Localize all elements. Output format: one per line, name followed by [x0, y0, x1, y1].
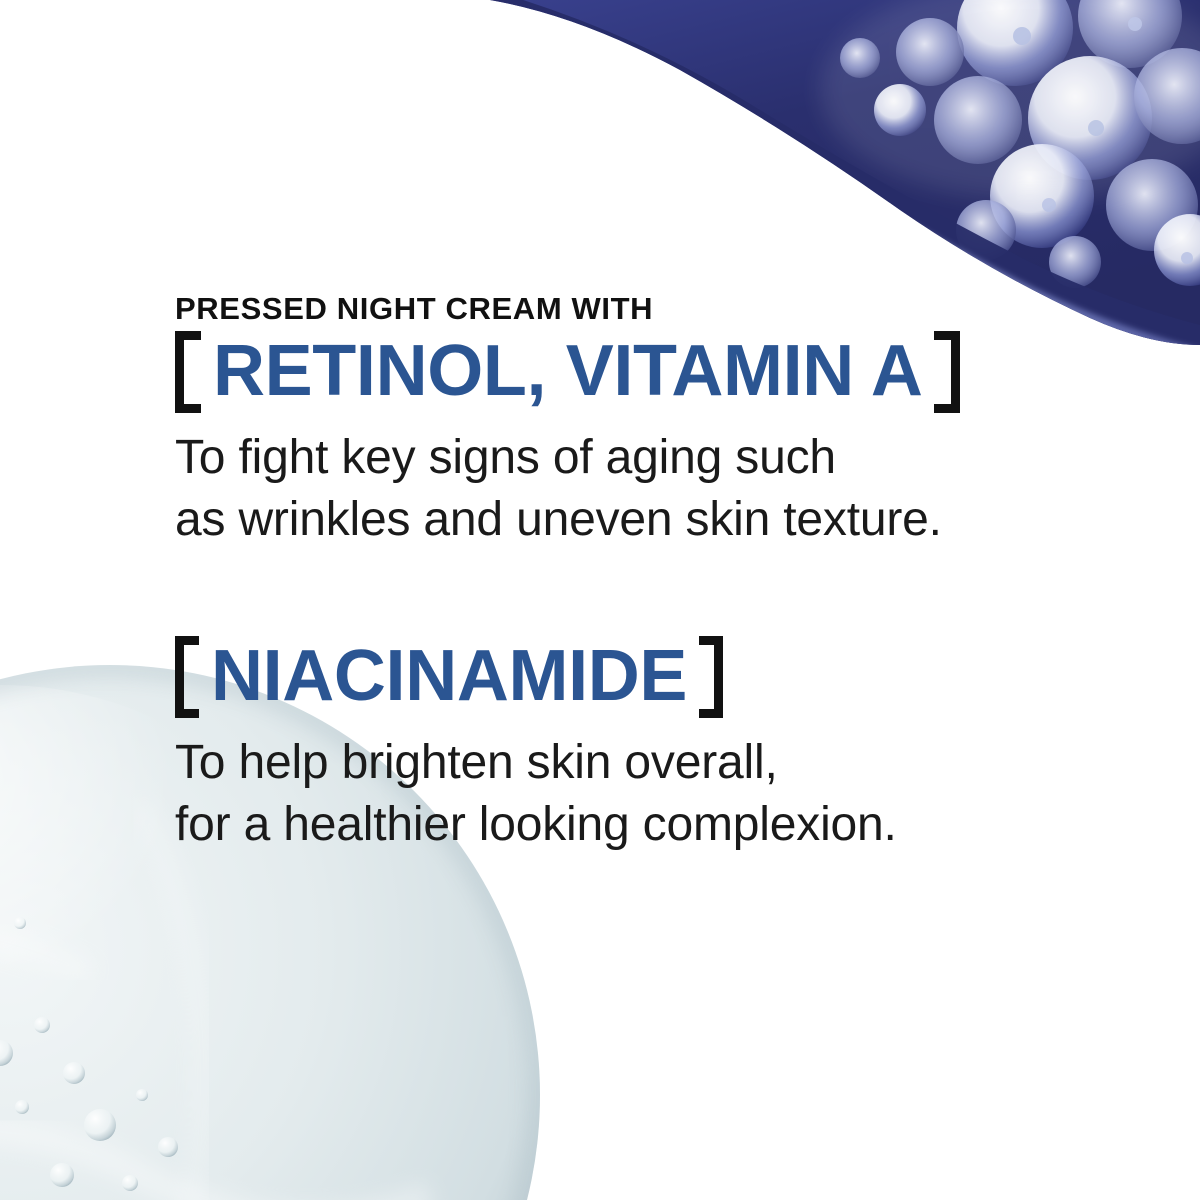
body-line: To help brighten skin overall,: [175, 732, 1095, 793]
block-spacer: [175, 550, 1095, 636]
body-line: as wrinkles and uneven skin texture.: [175, 489, 1095, 550]
benefit-block-niacinamide: NIACINAMIDE To help brighten skin overal…: [175, 636, 1095, 855]
product-benefit-graphic: PRESSED NIGHT CREAM WITH RETINOL, VITAMI…: [0, 0, 1200, 1200]
headline-row-retinol: RETINOL, VITAMIN A: [175, 331, 1095, 413]
bracket-open-icon: [175, 331, 201, 413]
body-line: To fight key signs of aging such: [175, 427, 1095, 488]
headline-row-niacinamide: NIACINAMIDE: [175, 636, 1095, 718]
copy-block: PRESSED NIGHT CREAM WITH RETINOL, VITAMI…: [175, 292, 1095, 855]
eyebrow-text: PRESSED NIGHT CREAM WITH: [175, 292, 1095, 325]
headline-retinol: RETINOL, VITAMIN A: [201, 331, 934, 413]
bracket-close-icon: [699, 636, 723, 718]
body-copy-retinol: To fight key signs of aging such as wrin…: [175, 427, 1095, 550]
body-line: for a healthier looking complexion.: [175, 794, 1095, 855]
body-copy-niacinamide: To help brighten skin overall, for a hea…: [175, 732, 1095, 855]
bracket-open-icon: [175, 636, 199, 718]
benefit-block-retinol: PRESSED NIGHT CREAM WITH RETINOL, VITAMI…: [175, 292, 1095, 550]
headline-niacinamide: NIACINAMIDE: [199, 636, 699, 718]
bracket-close-icon: [934, 331, 960, 413]
